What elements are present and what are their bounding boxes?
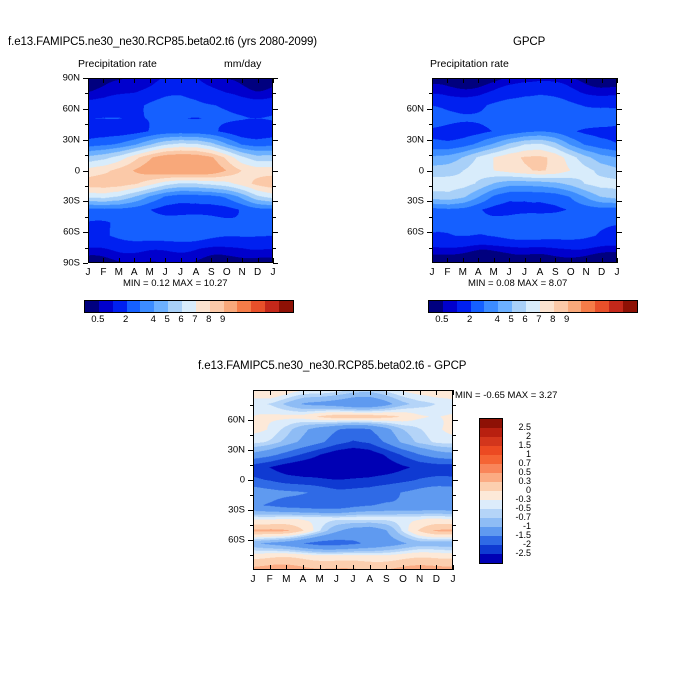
colorbar-cell	[443, 301, 457, 312]
colorbar-cell	[224, 301, 238, 312]
x-tick	[540, 258, 541, 263]
y-minor-tick	[617, 124, 620, 125]
colorbar-cell	[581, 301, 595, 312]
y-minor-tick	[617, 201, 620, 202]
colorbar-cell	[480, 536, 502, 545]
y-axis-label: 0	[215, 475, 245, 486]
y-minor-tick	[273, 93, 276, 94]
y-axis-label: 60N	[215, 415, 245, 426]
y-minor-tick	[273, 171, 276, 172]
x-tick	[571, 78, 572, 83]
y-minor-tick	[453, 420, 456, 421]
obs-variable-label: Precipitation rate	[430, 58, 509, 70]
colorbar-cell	[512, 301, 526, 312]
colorbar-cell	[480, 446, 502, 455]
x-axis-label: M	[459, 267, 467, 278]
y-axis-label: 60S	[215, 535, 245, 546]
x-axis-label: F	[444, 267, 450, 278]
colorbar-cell	[140, 301, 154, 312]
y-minor-tick	[429, 248, 432, 249]
colorbar-tick-label: 9	[220, 314, 225, 325]
y-axis-label: 90S	[50, 258, 80, 269]
x-tick	[134, 258, 135, 263]
y-axis-label: 30S	[394, 196, 424, 207]
x-axis-label: J	[163, 267, 168, 278]
y-axis-label: 30N	[50, 134, 80, 145]
colorbar-tick-label: 2	[123, 314, 128, 325]
model-plot-area	[88, 78, 273, 263]
colorbar-cell	[210, 301, 224, 312]
x-tick	[453, 565, 454, 570]
obs-plot-area	[432, 78, 617, 263]
y-minor-tick	[617, 186, 620, 187]
x-tick	[119, 258, 120, 263]
x-axis-label: O	[567, 267, 575, 278]
panel-model: f.e13.FAMIPC5.ne30_ne30.RCP85.beta02.t6 …	[0, 0, 350, 340]
x-tick	[494, 258, 495, 263]
colorbar-tick-label: -2.5	[505, 548, 531, 558]
colorbar-cell	[113, 301, 127, 312]
y-tick	[273, 78, 278, 79]
x-axis-label: S	[383, 574, 390, 585]
y-minor-tick	[453, 495, 456, 496]
y-minor-tick	[250, 435, 253, 436]
x-tick	[571, 258, 572, 263]
panel-obs: GPCP Precipitation rate MIN = 0.08 MAX =…	[350, 0, 700, 340]
y-minor-tick	[85, 248, 88, 249]
x-tick	[134, 78, 135, 83]
colorbar-cell	[595, 301, 609, 312]
y-minor-tick	[85, 93, 88, 94]
y-minor-tick	[453, 555, 456, 556]
x-tick	[353, 390, 354, 395]
colorbar-tick-label: 8	[206, 314, 211, 325]
y-minor-tick	[429, 109, 432, 110]
y-minor-tick	[429, 232, 432, 233]
obs-colorbar[interactable]	[428, 300, 638, 313]
x-axis-label: M	[115, 267, 123, 278]
x-tick	[88, 258, 89, 263]
colorbar-cell	[498, 301, 512, 312]
x-tick	[103, 78, 104, 83]
colorbar-tick-label: 6	[522, 314, 527, 325]
y-minor-tick	[617, 171, 620, 172]
x-tick	[509, 78, 510, 83]
colorbar-cell	[480, 464, 502, 473]
x-axis-label: A	[475, 267, 482, 278]
colorbar-cell	[526, 301, 540, 312]
colorbar-tick-label: 9	[564, 314, 569, 325]
x-tick	[555, 78, 556, 83]
model-variable-label: Precipitation rate	[78, 58, 157, 70]
x-axis-label: A	[193, 267, 200, 278]
y-minor-tick	[250, 510, 253, 511]
x-axis-label: A	[366, 574, 373, 585]
y-minor-tick	[429, 171, 432, 172]
colorbar-cell	[480, 491, 502, 500]
x-tick	[303, 390, 304, 395]
y-minor-tick	[250, 495, 253, 496]
x-axis-label: D	[598, 267, 605, 278]
x-axis-label: J	[451, 574, 456, 585]
x-tick	[253, 390, 254, 395]
colorbar-cell	[480, 437, 502, 446]
x-tick	[432, 78, 433, 83]
diff-minmax-label: MIN = -0.65 MAX = 3.27	[455, 390, 557, 401]
obs-panel-title: GPCP	[513, 36, 545, 48]
y-minor-tick	[453, 405, 456, 406]
y-minor-tick	[273, 186, 276, 187]
colorbar-cell	[85, 301, 99, 312]
x-axis-label: N	[583, 267, 590, 278]
x-tick	[478, 258, 479, 263]
y-minor-tick	[250, 525, 253, 526]
colorbar-cell	[554, 301, 568, 312]
x-tick	[478, 78, 479, 83]
y-minor-tick	[250, 465, 253, 466]
x-tick	[617, 78, 618, 83]
diff-colorbar[interactable]	[479, 418, 503, 564]
x-tick	[463, 258, 464, 263]
diff-panel-title: f.e13.FAMIPC5.ne30_ne30.RCP85.beta02.t6 …	[198, 360, 466, 372]
colorbar-tick-label: 4	[151, 314, 156, 325]
colorbar-cell	[480, 554, 502, 563]
colorbar-tick-label: 7	[192, 314, 197, 325]
y-minor-tick	[617, 109, 620, 110]
x-tick	[286, 565, 287, 570]
y-minor-tick	[85, 201, 88, 202]
y-axis-label: 60S	[50, 227, 80, 238]
y-minor-tick	[273, 201, 276, 202]
x-tick	[617, 258, 618, 263]
x-axis-label: D	[254, 267, 261, 278]
x-axis-label: J	[86, 267, 91, 278]
y-minor-tick	[617, 232, 620, 233]
y-minor-tick	[617, 155, 620, 156]
colorbar-cell	[480, 500, 502, 509]
colorbar-cell	[484, 301, 498, 312]
y-minor-tick	[250, 555, 253, 556]
x-tick	[494, 78, 495, 83]
x-tick	[453, 390, 454, 395]
colorbar-cell	[609, 301, 623, 312]
x-tick	[420, 565, 421, 570]
y-minor-tick	[429, 186, 432, 187]
y-axis-label: 90N	[50, 73, 80, 84]
x-axis-label: J	[430, 267, 435, 278]
y-axis-label: 60N	[50, 103, 80, 114]
x-axis-label: S	[552, 267, 559, 278]
colorbar-cell	[99, 301, 113, 312]
x-tick	[370, 390, 371, 395]
y-minor-tick	[617, 248, 620, 249]
colorbar-cell	[182, 301, 196, 312]
x-axis-label: J	[334, 574, 339, 585]
colorbar-cell	[623, 301, 637, 312]
obs-minmax-label: MIN = 0.08 MAX = 8.07	[468, 278, 567, 289]
y-minor-tick	[85, 109, 88, 110]
x-tick	[353, 565, 354, 570]
colorbar-tick-label: 0.5	[91, 314, 104, 325]
x-axis-label: M	[315, 574, 323, 585]
colorbar-tick-label: 7	[536, 314, 541, 325]
x-axis-label: J	[507, 267, 512, 278]
y-minor-tick	[273, 140, 276, 141]
x-tick	[586, 258, 587, 263]
x-tick	[165, 78, 166, 83]
x-tick	[432, 258, 433, 263]
colorbar-cell	[480, 482, 502, 491]
precipitation-diagnostic-figure: { "figure": { "width": 700, "height": 70…	[0, 0, 700, 700]
x-tick	[181, 78, 182, 83]
colorbar-cell	[480, 455, 502, 464]
x-tick	[253, 565, 254, 570]
y-minor-tick	[85, 217, 88, 218]
y-minor-tick	[85, 155, 88, 156]
y-minor-tick	[429, 93, 432, 94]
colorbar-cell	[168, 301, 182, 312]
x-axis-label: M	[145, 267, 153, 278]
x-axis-label: A	[537, 267, 544, 278]
x-tick	[555, 258, 556, 263]
y-minor-tick	[85, 140, 88, 141]
y-minor-tick	[429, 124, 432, 125]
x-axis-label: M	[489, 267, 497, 278]
x-tick	[602, 78, 603, 83]
x-tick	[436, 390, 437, 395]
y-minor-tick	[453, 510, 456, 511]
colorbar-cell	[480, 545, 502, 554]
y-minor-tick	[250, 450, 253, 451]
x-tick	[227, 78, 228, 83]
y-axis-label: 30S	[50, 196, 80, 207]
model-units-label: mm/day	[224, 58, 261, 70]
x-tick	[119, 78, 120, 83]
colorbar-cell	[127, 301, 141, 312]
x-axis-label: O	[399, 574, 407, 585]
x-tick	[165, 258, 166, 263]
y-minor-tick	[85, 171, 88, 172]
y-axis-label: 30N	[215, 445, 245, 456]
colorbar-cell	[471, 301, 485, 312]
colorbar-cell	[265, 301, 279, 312]
y-minor-tick	[429, 155, 432, 156]
x-tick	[196, 78, 197, 83]
y-axis-label: 0	[50, 165, 80, 176]
colorbar-tick-label: 2	[467, 314, 472, 325]
x-tick	[403, 565, 404, 570]
y-minor-tick	[617, 140, 620, 141]
x-tick	[447, 78, 448, 83]
x-tick	[103, 258, 104, 263]
x-tick	[303, 565, 304, 570]
x-tick	[320, 565, 321, 570]
colorbar-tick-label: 5	[509, 314, 514, 325]
colorbar-cell	[196, 301, 210, 312]
y-minor-tick	[273, 248, 276, 249]
y-minor-tick	[429, 217, 432, 218]
model-minmax-label: MIN = 0.12 MAX = 10.27	[123, 278, 228, 289]
y-minor-tick	[429, 201, 432, 202]
x-tick	[509, 258, 510, 263]
y-minor-tick	[250, 405, 253, 406]
y-tick	[83, 263, 88, 264]
y-minor-tick	[250, 480, 253, 481]
y-axis-label: 60S	[394, 227, 424, 238]
colorbar-cell	[480, 509, 502, 518]
x-tick	[447, 258, 448, 263]
x-tick	[336, 390, 337, 395]
y-minor-tick	[85, 232, 88, 233]
x-axis-label: D	[433, 574, 440, 585]
x-tick	[258, 78, 259, 83]
colorbar-cell	[457, 301, 471, 312]
model-panel-title: f.e13.FAMIPC5.ne30_ne30.RCP85.beta02.t6 …	[8, 36, 317, 48]
x-axis-label: J	[178, 267, 183, 278]
x-tick	[258, 258, 259, 263]
colorbar-cell	[480, 419, 502, 428]
x-tick	[196, 258, 197, 263]
y-minor-tick	[429, 140, 432, 141]
x-tick	[386, 565, 387, 570]
y-minor-tick	[85, 186, 88, 187]
x-tick	[586, 78, 587, 83]
x-tick	[150, 78, 151, 83]
x-axis-label: J	[522, 267, 527, 278]
colorbar-tick-label: 8	[550, 314, 555, 325]
colorbar-cell	[480, 473, 502, 482]
x-axis-label: N	[239, 267, 246, 278]
colorbar-cell	[568, 301, 582, 312]
y-minor-tick	[250, 540, 253, 541]
x-tick	[242, 258, 243, 263]
x-tick	[403, 390, 404, 395]
y-axis-label: 30N	[394, 134, 424, 145]
y-tick	[83, 78, 88, 79]
x-tick	[602, 258, 603, 263]
x-axis-label: F	[267, 574, 273, 585]
x-axis-label: J	[351, 574, 356, 585]
x-tick	[211, 78, 212, 83]
x-tick	[150, 258, 151, 263]
y-minor-tick	[617, 93, 620, 94]
colorbar-cell	[480, 527, 502, 536]
colorbar-cell	[154, 301, 168, 312]
x-tick	[463, 78, 464, 83]
y-minor-tick	[617, 217, 620, 218]
x-tick	[540, 78, 541, 83]
x-tick	[242, 78, 243, 83]
y-minor-tick	[250, 420, 253, 421]
x-axis-label: O	[223, 267, 231, 278]
y-minor-tick	[273, 124, 276, 125]
diff-plot-area	[253, 390, 453, 570]
y-minor-tick	[453, 540, 456, 541]
diff-heatmap-canvas	[254, 391, 452, 569]
model-heatmap-canvas	[89, 79, 272, 262]
colorbar-cell	[540, 301, 554, 312]
colorbar-cell	[237, 301, 251, 312]
x-axis-label: A	[300, 574, 307, 585]
y-minor-tick	[453, 435, 456, 436]
y-minor-tick	[453, 525, 456, 526]
colorbar-cell	[480, 518, 502, 527]
y-axis-label: 0	[394, 165, 424, 176]
panel-diff: f.e13.FAMIPC5.ne30_ne30.RCP85.beta02.t6 …	[0, 340, 700, 700]
x-axis-label: M	[282, 574, 290, 585]
y-minor-tick	[273, 155, 276, 156]
y-minor-tick	[453, 450, 456, 451]
x-tick	[227, 258, 228, 263]
y-axis-label: 60N	[394, 103, 424, 114]
x-tick	[370, 565, 371, 570]
colorbar-tick-label: 6	[178, 314, 183, 325]
model-colorbar[interactable]	[84, 300, 294, 313]
x-axis-label: J	[251, 574, 256, 585]
x-tick	[88, 78, 89, 83]
x-tick	[320, 390, 321, 395]
x-tick	[270, 390, 271, 395]
x-tick	[211, 258, 212, 263]
y-minor-tick	[273, 232, 276, 233]
colorbar-cell	[429, 301, 443, 312]
obs-heatmap-canvas	[433, 79, 616, 262]
colorbar-cell	[480, 428, 502, 437]
x-tick	[420, 390, 421, 395]
y-minor-tick	[453, 480, 456, 481]
x-axis-label: A	[131, 267, 138, 278]
colorbar-tick-label: 0.5	[435, 314, 448, 325]
x-tick	[525, 78, 526, 83]
x-axis-label: J	[615, 267, 620, 278]
colorbar-cell	[251, 301, 265, 312]
x-axis-label: J	[271, 267, 276, 278]
y-axis-label: 30S	[215, 505, 245, 516]
x-tick	[286, 390, 287, 395]
x-tick	[181, 258, 182, 263]
y-minor-tick	[85, 124, 88, 125]
x-axis-label: S	[208, 267, 215, 278]
x-tick	[436, 565, 437, 570]
colorbar-tick-label: 5	[165, 314, 170, 325]
y-minor-tick	[273, 217, 276, 218]
x-tick	[386, 390, 387, 395]
y-minor-tick	[453, 465, 456, 466]
y-minor-tick	[273, 109, 276, 110]
x-tick	[270, 565, 271, 570]
x-tick	[525, 258, 526, 263]
y-tick	[273, 263, 278, 264]
colorbar-cell	[279, 301, 293, 312]
x-tick	[336, 565, 337, 570]
colorbar-tick-label: 4	[495, 314, 500, 325]
x-axis-label: N	[416, 574, 423, 585]
x-axis-label: F	[100, 267, 106, 278]
